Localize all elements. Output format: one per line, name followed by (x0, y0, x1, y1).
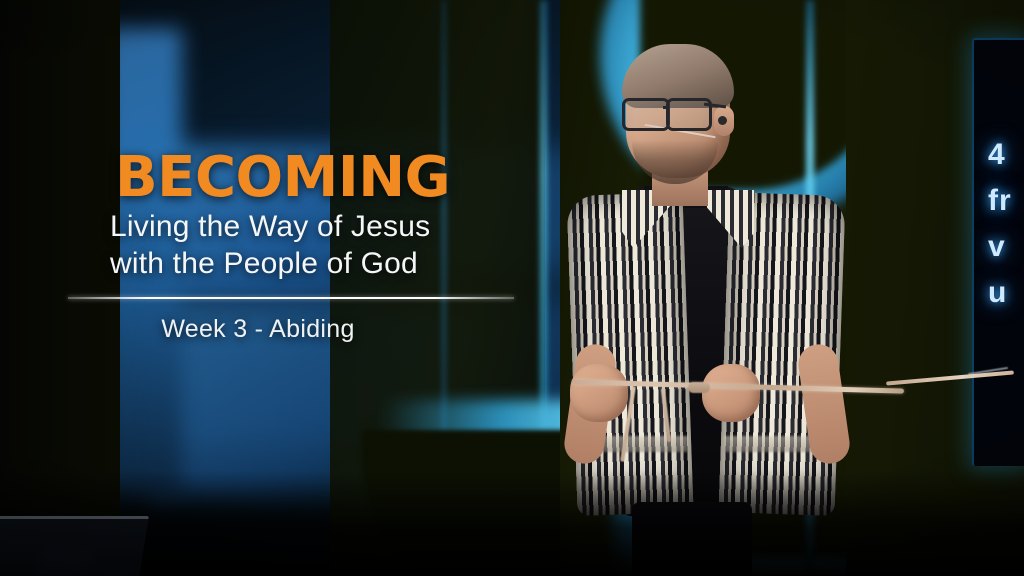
rope-knot (688, 382, 710, 393)
video-frame: 4 fr v u BECOM (0, 0, 1024, 576)
week-label: Week 3 - Abiding (0, 315, 516, 344)
glasses-lens-left (622, 98, 670, 131)
glasses-bridge (663, 106, 669, 109)
speaker-hand-left (570, 364, 628, 422)
title-divider (68, 297, 514, 299)
stage-floor-shadow (0, 470, 1024, 576)
title-overlay: BECOMING Living the Way of Jesus with th… (0, 150, 560, 344)
series-title: BECOMING (115, 150, 560, 206)
led-screen-text: 4 fr v u (988, 132, 1012, 316)
series-subtitle-line-1: Living the Way of Jesus (110, 210, 560, 245)
led-screen: 4 fr v u (972, 38, 1024, 466)
stage-monitor (0, 516, 149, 576)
speaker-hand-right (702, 364, 760, 422)
series-subtitle-line-2: with the People of God (110, 247, 560, 282)
earpiece-mic-icon (718, 116, 727, 125)
